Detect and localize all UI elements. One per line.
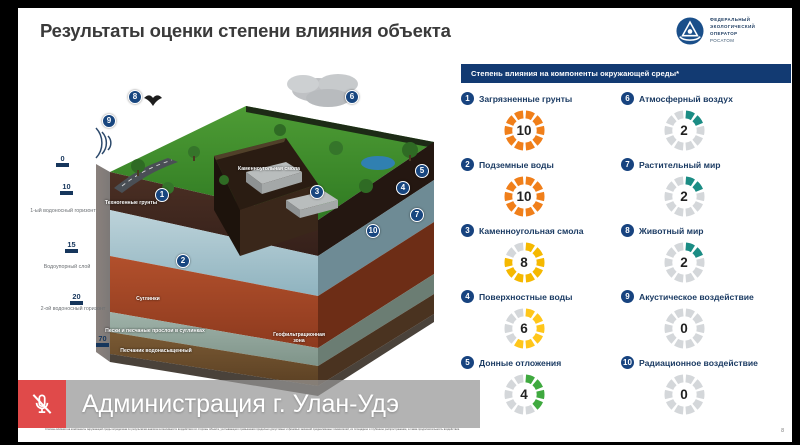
geological-cross-section-diagram: Техногенные грунты Каменноугольная смола… [18,60,458,420]
depth-tick-value: 15 [65,240,78,249]
brand-logo: ФЕДЕРАЛЬНЫЙ ЭКОЛОГИЧЕСКИЙ ОПЕРАТОР РОСАТ… [676,17,755,45]
indicator-gauge-row: 2 [621,106,747,154]
indicator-donut: 2 [661,173,708,220]
indicator-10[interactable]: 10Радиационное воздействие0 [621,354,791,418]
indicator-label: Атмосферный воздух [639,94,733,104]
participant-name: Администрация г. Улан-Удэ [82,390,399,419]
indicator-header: 8Животный мир [621,223,791,238]
soil-label-sand-lens: Пески и песчаные прослои в суглинках [94,328,216,334]
indicator-donut: 4 [501,371,548,418]
indicator-header: 5Донные отложения [461,355,621,370]
indicator-header: 3Каменноугольная смола [461,223,621,238]
indicator-number: 8 [621,224,634,237]
slide-stage: Результаты оценки степени влияния объект… [0,0,800,445]
diagram-marker-2[interactable]: 2 [176,254,190,268]
soil-label-sandstone: Песчаник водонасыщенный [104,348,208,354]
indicator-6[interactable]: 6Атмосферный воздух2 [621,90,791,154]
depth-tick-20: 20 [70,292,83,305]
indicator-donut: 0 [661,371,708,418]
indicator-gauge-row: 8 [461,238,587,286]
indicator-2[interactable]: 2Подземные воды10 [461,156,621,220]
indicator-1[interactable]: 1Загрязненные грунты10 [461,90,621,154]
indicator-header: 6Атмосферный воздух [621,91,791,106]
indicator-value: 2 [661,173,708,220]
indicator-donut: 2 [661,107,708,154]
indicator-gauge-row: 2 [621,172,747,220]
indicator-header: 10Радиационное воздействие [621,355,791,370]
depth-tick-value: 10 [60,182,73,191]
indicator-7[interactable]: 7Растительный мир2 [621,156,791,220]
indicator-8[interactable]: 8Животный мир2 [621,222,791,286]
indicator-donut: 2 [661,239,708,286]
indicator-donut: 10 [501,173,548,220]
indicator-number: 3 [461,224,474,237]
indicator-gauge-row: 6 [461,304,587,352]
indicator-number: 2 [461,158,474,171]
depth-tick-70: 70 [96,334,109,347]
mic-mute-button[interactable] [18,380,66,428]
letterbox-right [792,0,800,445]
diagram-marker-4[interactable]: 4 [396,181,410,195]
depth-tick-15: 15 [65,240,78,253]
indicator-gauge-row: 0 [621,370,747,418]
indicator-label: Донные отложения [479,358,561,368]
impact-assessment-panel: Степень влияния на компоненты окружающей… [461,64,791,418]
aquifer-label-2: Водоупорный слой [34,264,100,272]
indicator-header: 9Акустическое воздействие [621,289,791,304]
indicator-gauge-row: 2 [621,238,747,286]
indicator-label: Животный мир [639,226,704,236]
page-number: 8 [781,428,784,434]
indicator-header: 4Поверхностные воды [461,289,621,304]
indicator-value: 6 [501,305,548,352]
soil-label-coal-tar: Каменноугольная смола [238,166,300,172]
page-title: Результаты оценки степени влияния объект… [40,20,451,42]
indicator-label: Акустическое воздействие [639,292,754,302]
surface-water-pond [361,156,395,170]
indicator-value: 0 [661,371,708,418]
soil-label-techno: Техногенные грунты [102,200,160,206]
indicator-value: 2 [661,239,708,286]
indicator-number: 6 [621,92,634,105]
indicator-grid: 1Загрязненные грунты106Атмосферный возду… [461,90,791,418]
indicator-label: Загрязненные грунты [479,94,572,104]
indicator-header: 1Загрязненные грунты [461,91,621,106]
logo-wordmark: ФЕДЕРАЛЬНЫЙ ЭКОЛОГИЧЕСКИЙ ОПЕРАТОР РОСАТ… [710,17,755,44]
depth-tick-value: 70 [96,334,109,343]
logo-line-4: РОСАТОМ [710,38,755,45]
diagram-marker-8[interactable]: 8 [128,90,142,104]
letterbox-top [0,0,800,8]
indicator-3[interactable]: 3Каменноугольная смола8 [461,222,621,286]
indicator-gauge-row: 0 [621,304,747,352]
aquifer-label-3: 2-ой водоносный горизонт [40,306,106,314]
acoustic-waves-icon [96,128,111,158]
depth-tick-0: 0 [56,154,69,167]
aquifer-label-1: 1-ый водоносный горизонт [30,208,96,216]
indicator-header: 2Подземные воды [461,157,621,172]
diagram-marker-9[interactable]: 9 [102,114,116,128]
indicator-gauge-row: 10 [461,172,587,220]
indicator-number: 4 [461,290,474,303]
diagram-marker-3[interactable]: 3 [310,185,324,199]
depth-tick-10: 10 [60,182,73,195]
depth-tick-value: 20 [70,292,83,301]
indicator-label: Радиационное воздействие [639,358,758,368]
indicator-donut: 0 [661,305,708,352]
diagram-marker-6[interactable]: 6 [345,90,359,104]
indicator-value: 8 [501,239,548,286]
indicator-5[interactable]: 5Донные отложения4 [461,354,621,418]
indicator-number: 7 [621,158,634,171]
indicator-number: 10 [621,356,634,369]
depth-tick-value: 0 [56,154,69,163]
logo-line-3: ОПЕРАТОР [710,31,755,38]
indicator-label: Подземные воды [479,160,554,170]
logo-line-1: ФЕДЕРАЛЬНЫЙ [710,17,755,24]
indicator-donut: 6 [501,305,548,352]
indicator-4[interactable]: 4Поверхностные воды6 [461,288,621,352]
soil-label-geofilter: Геофильтрационная зона [268,332,330,345]
soil-label-loam: Суглинки [122,296,174,302]
rosatom-atom-icon [676,17,704,45]
indicator-label: Поверхностные воды [479,292,572,302]
indicator-number: 1 [461,92,474,105]
indicator-number: 9 [621,290,634,303]
indicator-gauge-row: 10 [461,106,587,154]
video-call-participant-overlay: Администрация г. Улан-Удэ [18,380,480,428]
indicator-value: 0 [661,305,708,352]
indicator-donut: 8 [501,239,548,286]
letterbox-left [0,0,18,445]
indicator-value: 10 [501,173,548,220]
diagram-marker-5[interactable]: 5 [415,164,429,178]
diagram-marker-7[interactable]: 7 [410,208,424,222]
bird-icon [144,95,162,106]
indicator-header: 7Растительный мир [621,157,791,172]
diagram-marker-10[interactable]: 10 [366,224,380,238]
diagram-marker-1[interactable]: 1 [155,188,169,202]
indicator-label: Растительный мир [639,160,721,170]
cross-section-illustration [18,60,458,420]
indicator-value: 4 [501,371,548,418]
logo-line-2: ЭКОЛОГИЧЕСКИЙ [710,24,755,31]
indicator-donut: 10 [501,107,548,154]
indicator-label: Каменноугольная смола [479,226,583,236]
indicator-value: 2 [661,107,708,154]
indicator-number: 5 [461,356,474,369]
indicator-9[interactable]: 9Акустическое воздействие0 [621,288,791,352]
footnote-text: Степень влияния на компоненты окружающей… [45,428,750,432]
indicator-value: 10 [501,107,548,154]
microphone-muted-icon [29,391,55,417]
panel-header: Степень влияния на компоненты окружающей… [461,64,791,83]
